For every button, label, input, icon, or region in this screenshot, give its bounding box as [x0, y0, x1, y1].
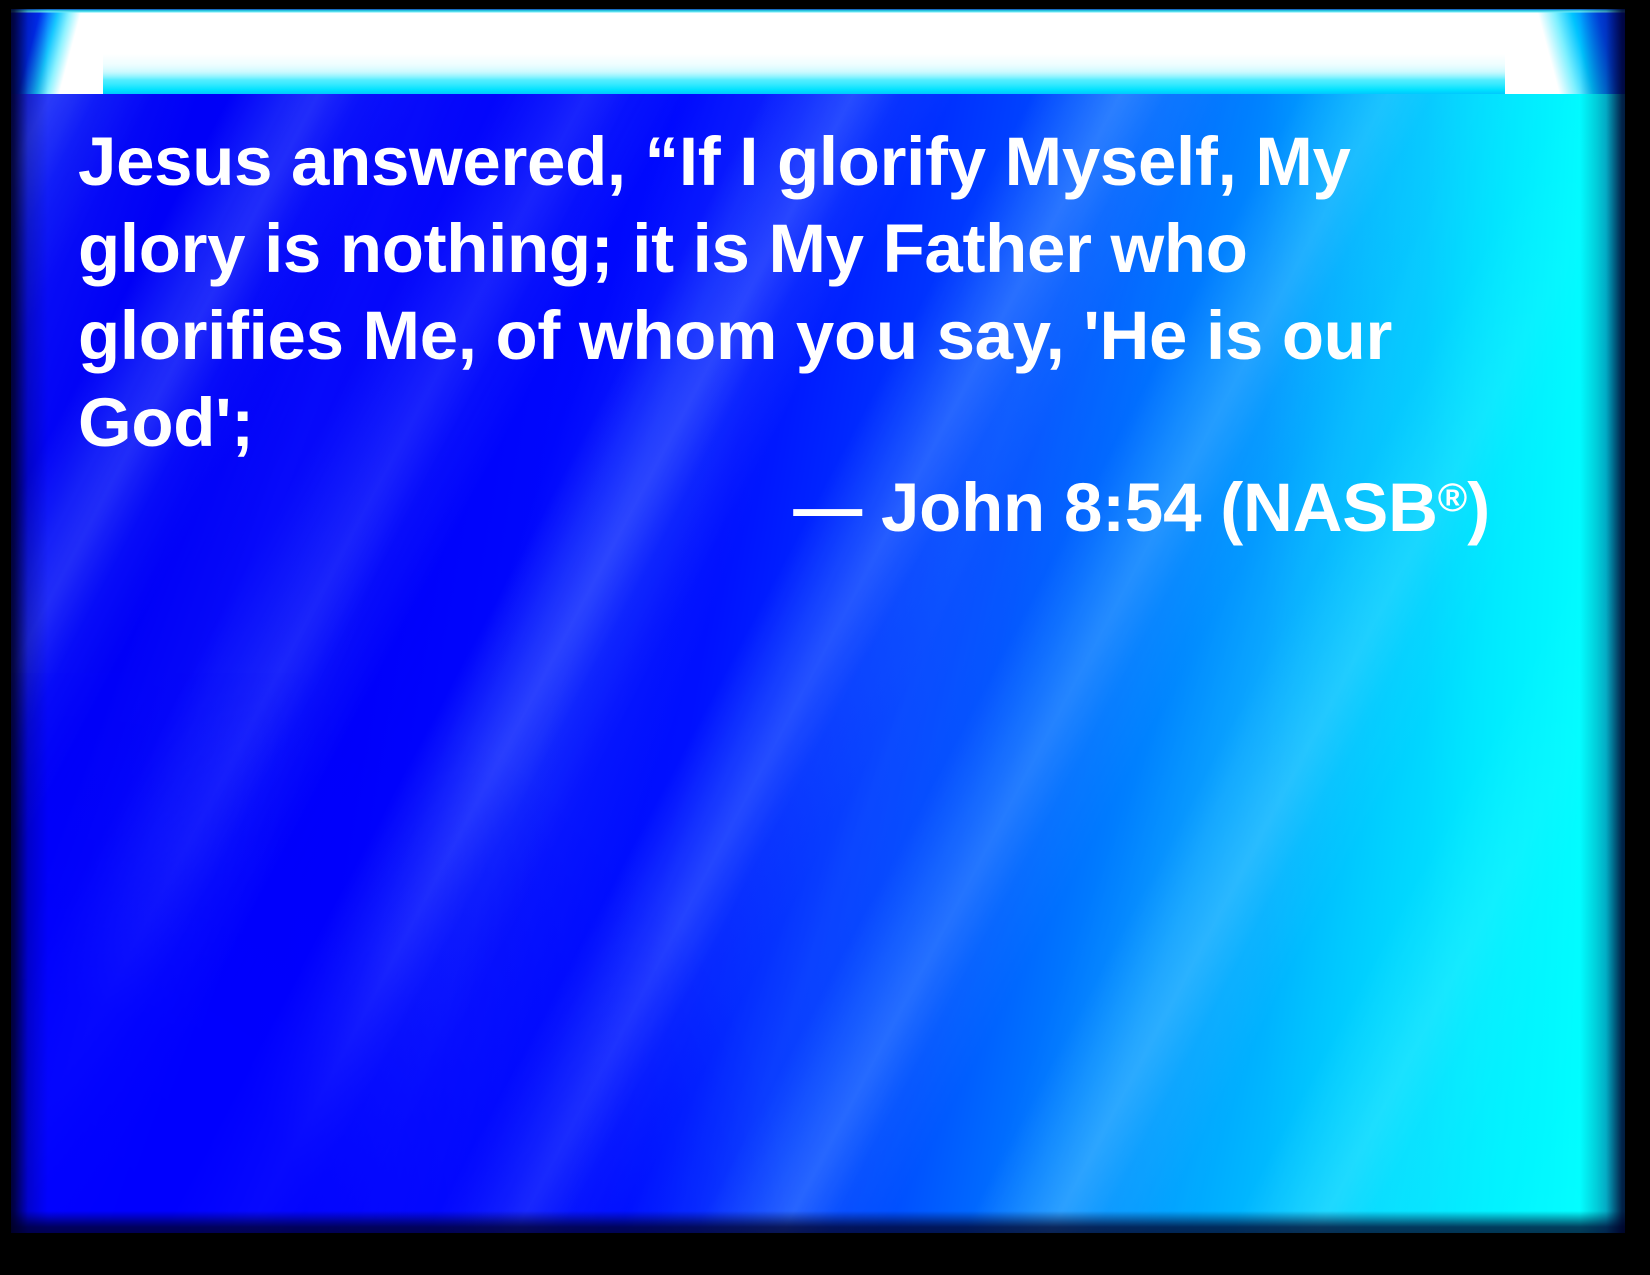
attribution-closing-paren: )	[1467, 469, 1490, 546]
registered-trademark-icon: ®	[1438, 476, 1467, 520]
attribution-reference: John 8:54 (NASB	[881, 469, 1438, 546]
top-glow-left-cap	[11, 8, 103, 94]
attribution-em-dash: —	[793, 469, 881, 546]
blue-corner-shading	[9, 673, 829, 1233]
attribution-block: — John 8:54 (NASB®)	[78, 455, 1490, 551]
verse-body-text: Jesus answered, “If I glorify Myself, My…	[78, 118, 1448, 466]
top-glow-right-cap	[1505, 8, 1625, 94]
frame-border-right	[1625, 0, 1650, 1275]
top-glow-band-core	[70, 8, 1550, 80]
top-glow-hairline	[11, 8, 1625, 13]
verse-slide: Jesus answered, “If I glorify Myself, My…	[0, 0, 1650, 1275]
frame-border-bottom	[0, 1233, 1650, 1275]
verse-text-block: Jesus answered, “If I glorify Myself, My…	[78, 118, 1448, 466]
